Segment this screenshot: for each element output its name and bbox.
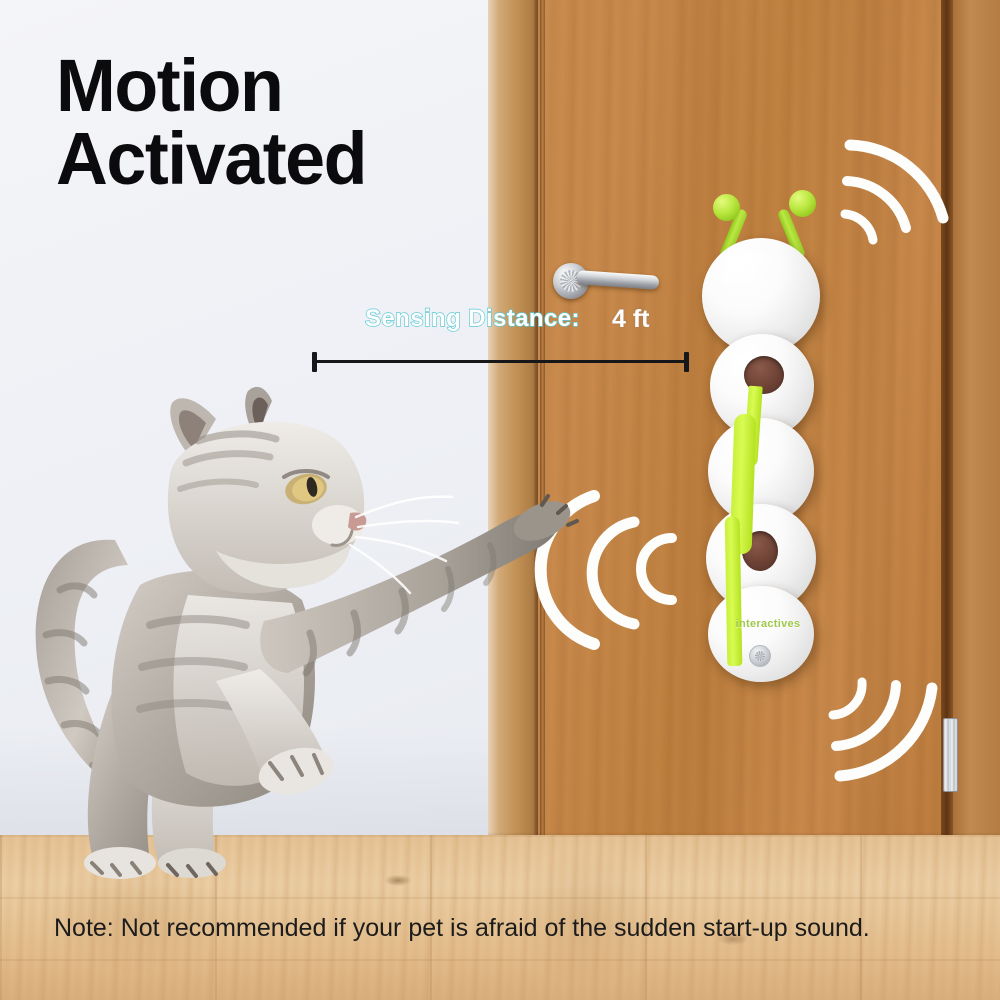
cat-illustration [20, 385, 580, 885]
page-title: Motion Activated [56, 50, 366, 195]
toy-power-button[interactable] [749, 645, 771, 667]
sensing-distance-value: 4 ft [612, 305, 650, 334]
sensing-distance-label: Sensing Distance: [365, 305, 580, 333]
measure-cap-right [684, 352, 689, 372]
door-handle-icon [553, 258, 663, 306]
motion-wave-bottom-right-icon [822, 658, 982, 793]
disclaimer-note: Note: Not recommended if your pet is afr… [54, 912, 934, 944]
measure-cap-left [312, 352, 317, 372]
toy-brand-logo: interactives [718, 618, 818, 630]
cat-head [168, 387, 458, 593]
feather-wand-lower[interactable] [725, 516, 743, 666]
toy-highlight [722, 252, 784, 304]
distance-measure-line [310, 352, 692, 372]
motion-wave-top-right-icon [836, 118, 986, 253]
toy-segment-tail [708, 586, 814, 682]
handle-lever [577, 270, 660, 290]
measure-bar [313, 360, 689, 363]
caterpillar-cat-toy[interactable]: interactives [694, 186, 842, 684]
product-marketing-image: interactives [0, 0, 1000, 1000]
